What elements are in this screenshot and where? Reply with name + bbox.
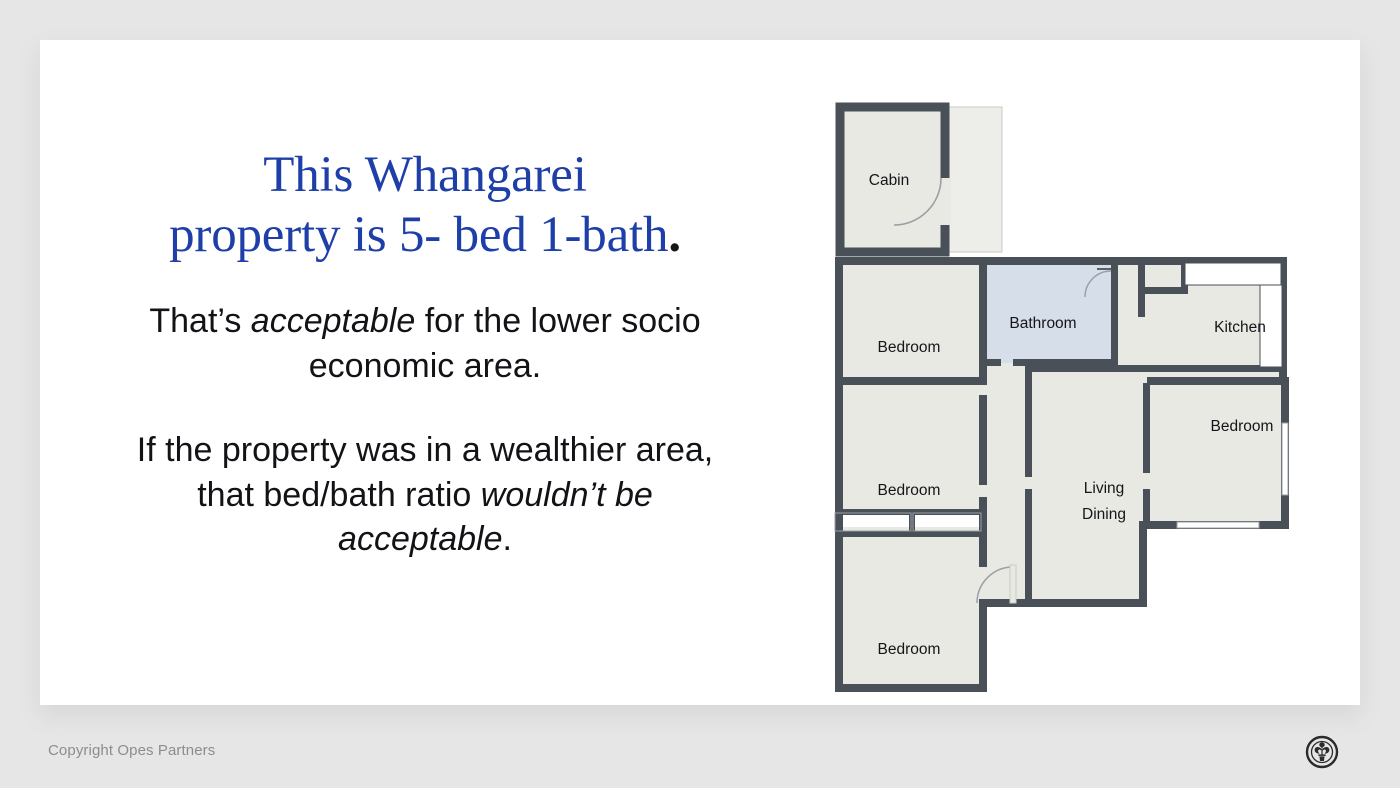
bedroom-2-label: Bedroom [878,482,941,499]
interior-wall-living-left-upper [1025,365,1032,477]
interior-wall-bedroom3-left-lower [1143,489,1150,525]
interior-wall-hall-right-mid [979,395,987,485]
slide-text-column: This Whangarei property is 5- bed 1-bath… [115,145,735,562]
para1-part-1: That’s [149,302,250,340]
cabin-label: Cabin [869,172,910,189]
bedroom-3-label: Bedroom [1211,418,1274,435]
floorplan-main-house: Bedroom Bedroom Bedroom Bathroom Kitchen… [835,257,1289,692]
interior-wall-bedroom3-left-upper [1143,383,1150,473]
bedroom-1-label: Bedroom [878,339,941,356]
living-dining-label-line1: Living [1084,480,1125,497]
interior-wall-bathroom-right [1111,265,1118,365]
para1-emphasis: acceptable [251,302,415,340]
body-paragraph-2: If the property was in a wealthier area,… [115,428,735,562]
floorplan-diagram: Cabin [785,65,1345,725]
interior-wall-living-top [1025,365,1147,372]
cabin-door-opening [937,178,951,225]
headline-line-2: property is 5- bed 1-bath [169,207,668,263]
opes-partners-fleur-logo-icon [1305,735,1339,769]
bedroom4-door-leaf [1010,565,1016,603]
exterior-wall-bedroom4-right [979,599,987,692]
bedroom-3-fill [1147,383,1289,523]
bedroom3-window-right [1282,423,1288,495]
bathroom-label: Bathroom [1009,315,1076,332]
bathroom-fill [987,257,1115,363]
interior-wall-bathroom-bottom [1013,359,1118,366]
interior-wall-bathroom-bottom-left [987,359,1001,366]
exterior-wall-living-right [1139,521,1147,607]
kitchen-label: Kitchen [1214,319,1266,336]
logo-fleur-de-lis-glyph [1315,742,1330,761]
exterior-wall-right-step [1147,377,1287,385]
headline-line-1: This Whangarei [263,147,586,203]
floorplan-room-cabin: Cabin [840,107,1002,252]
bedroom-4-fill [835,527,987,692]
interior-wall-hall-right-upper [979,265,987,385]
living-dining-label-line2: Dining [1082,506,1126,523]
headline-period: . [668,207,681,263]
page-title: This Whangarei property is 5- bed 1-bath… [115,145,735,265]
exterior-wall-left [835,257,843,692]
slide-card: This Whangarei property is 5- bed 1-bath… [40,40,1360,705]
interior-wall-living-left-lower [1025,489,1032,601]
interior-wall-bed1-bed2 [835,377,987,385]
bedroom-4-label: Bedroom [878,641,941,658]
bedroom-1-fill [835,257,987,385]
kitchen-counter-top [1185,263,1281,285]
body-paragraph-1: That’s acceptable for the lower socio ec… [115,299,735,388]
exterior-wall-bottom [835,684,987,692]
slide-stage: This Whangarei property is 5- bed 1-bath… [0,0,1400,788]
bedroom3-window-bottom [1177,522,1259,528]
interior-wall-cupboard-bottom [1138,287,1188,294]
para2-part-3: . [503,520,512,558]
copyright-text: Copyright Opes Partners [48,742,215,759]
